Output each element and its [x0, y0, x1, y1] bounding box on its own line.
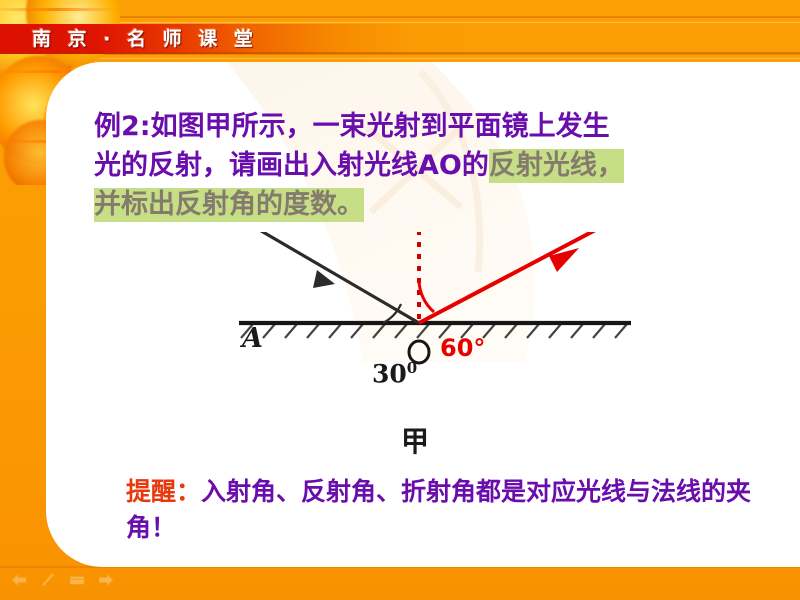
slide-root: 南 京 · 名 师 课 堂 例2:如图甲所示，一束光射到平面镜上发生 光的反射，… [0, 0, 800, 600]
screen-icon[interactable] [68, 572, 86, 588]
content-panel: 例2:如图甲所示，一束光射到平面镜上发生 光的反射，请画出入射光线AO的反射光线… [46, 62, 800, 567]
question-line-3-highlight: 并标出反射角的度数。 [94, 188, 364, 222]
question-line-3: 并标出反射角的度数。 [94, 185, 774, 224]
reflected-ray-line [419, 232, 603, 323]
label-incident-angle: 300 [372, 359, 417, 388]
reminder-text: 提醒：入射角、反射角、折射角都是对应光线与法线的夹角！ [126, 474, 766, 546]
decorative-stripe [0, 16, 800, 18]
question-line-2-highlight: 反射光线， [489, 149, 624, 183]
question-line-2: 光的反射，请画出入射光线AO的反射光线， [94, 146, 774, 185]
question-line-2-plain: 光的反射，请画出入射光线AO的 [94, 150, 489, 181]
question-text: 例2:如图甲所示，一束光射到平面镜上发生 光的反射，请画出入射光线AO的反射光线… [94, 107, 774, 224]
incident-angle-degree-symbol: 0 [407, 359, 417, 377]
navigation-bar[interactable] [10, 572, 115, 588]
reminder-tag: 提醒： [126, 477, 201, 506]
question-line-1: 例2:如图甲所示，一束光射到平面镜上发生 [94, 107, 774, 146]
label-figure-jia: 甲 [401, 420, 429, 460]
decorative-stripe [0, 22, 800, 23]
decorative-stripe [0, 58, 800, 59]
reminder-body: 入射角、反射角、折射角都是对应光线与法线的夹角！ [126, 477, 751, 542]
label-incident-ray-a: A [242, 323, 263, 354]
reflect-angle-arc [419, 280, 434, 312]
mirror-hatching [241, 324, 627, 338]
label-reflect-angle: 60° [440, 334, 485, 362]
incident-angle-value: 30 [372, 359, 407, 388]
previous-arrow-icon[interactable] [10, 572, 28, 588]
page-title: 南 京 · 名 师 课 堂 [32, 25, 258, 53]
pen-icon[interactable] [39, 572, 57, 588]
next-arrow-icon[interactable] [97, 572, 115, 588]
